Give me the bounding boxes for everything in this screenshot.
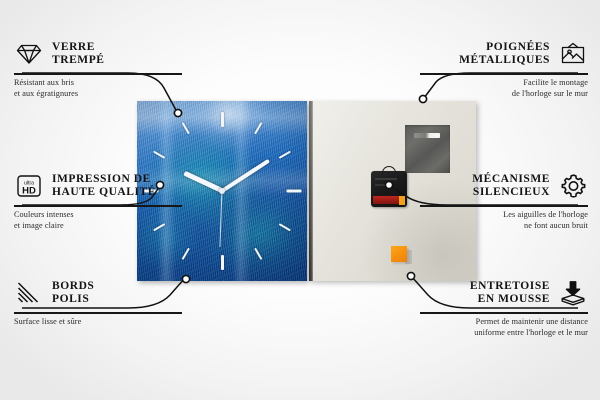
feature-header: ultra HD IMPRESSION DE HAUTE QUALITÉ <box>14 170 182 202</box>
feature-description: Surface lisse et sûre <box>14 317 182 328</box>
feature-divider <box>14 312 182 314</box>
feature-divider <box>14 73 182 75</box>
gear-icon <box>558 171 588 201</box>
mechanism-detail-line-secondary <box>375 184 391 186</box>
feature-desc-line2: et image claire <box>14 221 64 230</box>
feature-description: Les aiguilles de l'horloge ne font aucun… <box>420 210 588 231</box>
feature-title-line1: ENTRETOISE <box>470 280 550 292</box>
feature-header: POIGNÉES MÉTALLIQUES <box>420 38 588 70</box>
feature-title: VERRE TREMPÉ <box>52 41 105 68</box>
feature-desc-line2: ne font aucun bruit <box>524 221 588 230</box>
feature-title: POIGNÉES MÉTALLIQUES <box>459 41 550 68</box>
feature-header: VERRE TREMPÉ <box>14 38 182 70</box>
hanging-frame-icon <box>558 39 588 69</box>
feature-header: MÉCANISME SILENCIEUX <box>420 170 588 202</box>
feature-title-line2: TREMPÉ <box>52 54 105 66</box>
feature-divider <box>420 312 588 314</box>
feature-description: Couleurs intenses et image claire <box>14 210 182 231</box>
feature-header: BORDS POLIS <box>14 277 182 309</box>
feature-desc-line1: Facilite le montage <box>523 78 588 87</box>
feature-title-line2: POLIS <box>52 293 89 305</box>
feature-divider <box>14 205 182 207</box>
feature-title-line2: HAUTE QUALITÉ <box>52 186 156 198</box>
feature-desc-line2: de l'horloge sur le mur <box>512 89 588 98</box>
hanger-keyhole-slot <box>414 133 440 138</box>
feature-entretoise-en-mousse[interactable]: ENTRETOISE EN MOUSSE Permet de maintenir… <box>420 277 588 338</box>
polished-edges-icon <box>14 278 44 308</box>
feature-divider <box>420 205 588 207</box>
mechanism-orange-chip <box>399 196 405 205</box>
feature-title-line1: BORDS <box>52 280 94 292</box>
feature-title: MÉCANISME SILENCIEUX <box>472 173 550 200</box>
feature-desc-line2: et aux égratignures <box>14 89 78 98</box>
feature-title-line1: MÉCANISME <box>472 173 550 185</box>
feature-title-line2: SILENCIEUX <box>473 186 550 198</box>
feature-desc-line1: Résistant aux bris <box>14 78 74 87</box>
feature-divider <box>420 73 588 75</box>
feature-desc-line1: Surface lisse et sûre <box>14 317 81 326</box>
feature-title-line1: VERRE <box>52 41 95 53</box>
feature-description: Facilite le montage de l'horloge sur le … <box>420 78 588 99</box>
clock-tick-3 <box>286 190 301 193</box>
ultra-hd-icon: ultra HD <box>14 171 44 201</box>
feature-title: IMPRESSION DE HAUTE QUALITÉ <box>52 173 156 200</box>
feature-impression-hd[interactable]: ultra HD IMPRESSION DE HAUTE QUALITÉ Cou… <box>14 170 182 231</box>
feature-mecanisme-silencieux[interactable]: MÉCANISME SILENCIEUX Les aiguilles de l'… <box>420 170 588 231</box>
mechanism-hook <box>382 166 396 175</box>
feature-header: ENTRETOISE EN MOUSSE <box>420 277 588 309</box>
feature-desc-line1: Permet de maintenir une distance <box>476 317 588 326</box>
mechanism-red-label <box>373 196 401 204</box>
feature-title: ENTRETOISE EN MOUSSE <box>470 280 550 307</box>
feature-desc-line1: Les aiguilles de l'horloge <box>503 210 588 219</box>
clock-hand-cap <box>219 188 225 194</box>
feature-description: Résistant aux bris et aux égratignures <box>14 78 182 99</box>
clock-mechanism <box>371 171 407 207</box>
feature-title-line1: POIGNÉES <box>486 41 550 53</box>
feature-desc-line1: Couleurs intenses <box>14 210 74 219</box>
feature-desc-line2: uniforme entre l'horloge et le mur <box>474 328 588 337</box>
foam-spacer-icon <box>558 278 588 308</box>
diamond-icon <box>14 39 44 69</box>
infographic-stage: VERRE TREMPÉ Résistant aux bris et aux é… <box>0 0 600 400</box>
feature-poignees-metalliques[interactable]: POIGNÉES MÉTALLIQUES Facilite le montage… <box>420 38 588 99</box>
foam-spacer-sample <box>391 246 407 262</box>
feature-verre-trempe[interactable]: VERRE TREMPÉ Résistant aux bris et aux é… <box>14 38 182 99</box>
feature-description: Permet de maintenir une distance uniform… <box>420 317 588 338</box>
feature-bords-polis[interactable]: BORDS POLIS Surface lisse et sûre <box>14 277 182 328</box>
mechanism-detail-line <box>375 178 397 180</box>
feature-title-line2: MÉTALLIQUES <box>459 54 550 66</box>
clock-tick-12 <box>221 112 224 127</box>
feature-title: BORDS POLIS <box>52 280 94 307</box>
clock-tick-6 <box>221 255 224 270</box>
metal-hanger-plate <box>405 125 450 173</box>
feature-title-line2: EN MOUSSE <box>478 293 550 305</box>
svg-text:HD: HD <box>22 186 36 197</box>
feature-title-line1: IMPRESSION DE <box>52 173 151 185</box>
